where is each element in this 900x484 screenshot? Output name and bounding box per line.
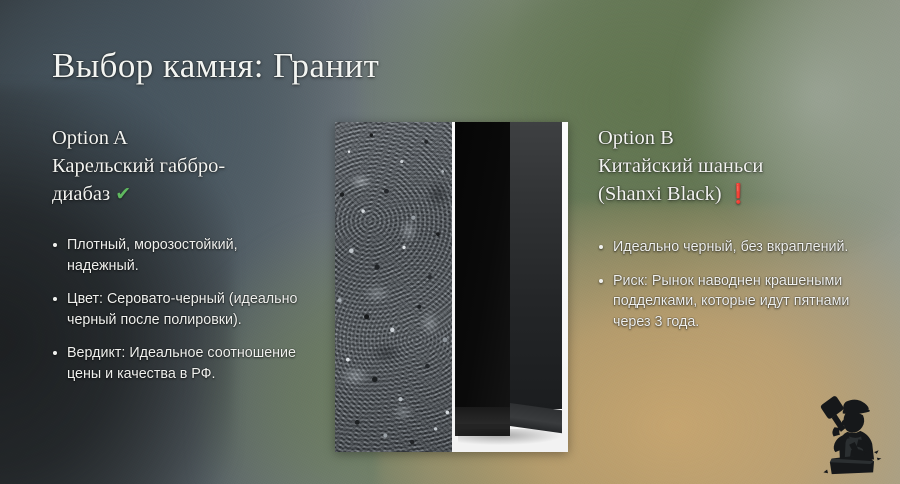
option-a-column: Option A Карельский габбро- диабаз ✔ Пло… bbox=[52, 124, 312, 397]
page-title: Выбор камня: Гранит bbox=[52, 46, 379, 86]
list-item: Риск: Рынок наводнен крашеными подделкам… bbox=[598, 271, 880, 333]
option-b-name-line1: Китайский шаньси bbox=[598, 155, 763, 177]
option-b-column: Option B Китайский шаньси (Shanxi Black)… bbox=[598, 124, 880, 345]
option-b-heading: Option B Китайский шаньси (Shanxi Black)… bbox=[598, 124, 880, 209]
check-mark-icon: ✔ bbox=[115, 184, 131, 205]
option-b-label: Option B bbox=[598, 127, 674, 149]
list-item: Плотный, морозостойкий, надежный. bbox=[52, 235, 312, 276]
block-side-face bbox=[510, 122, 562, 409]
stonemason-logo-icon bbox=[794, 384, 886, 476]
option-a-name-line1: Карельский габбро- bbox=[52, 155, 225, 177]
granite-blotch-overlay bbox=[335, 122, 452, 452]
option-a-heading: Option A Карельский габбро- диабаз ✔ bbox=[52, 124, 312, 209]
option-b-name-line2: (Shanxi Black) bbox=[598, 183, 722, 205]
block-shadow bbox=[458, 429, 562, 446]
option-a-bullet-list: Плотный, морозостойкий, надежный. Цвет: … bbox=[52, 235, 312, 384]
granite-texture-panel bbox=[335, 122, 452, 452]
slide: Выбор камня: Гранит Option A Карельский … bbox=[0, 0, 900, 484]
list-item: Цвет: Серовато-черный (идеально черный п… bbox=[52, 289, 312, 330]
option-b-bullet-list: Идеально черный, без вкраплений. Риск: Р… bbox=[598, 237, 880, 332]
list-item: Идеально черный, без вкраплений. bbox=[598, 237, 880, 258]
option-a-name-line2: диабаз bbox=[52, 183, 110, 205]
black-stone-block-panel bbox=[452, 122, 569, 452]
exclamation-mark-icon: ❗ bbox=[727, 184, 751, 205]
list-item: Вердикт: Идеальное соотношение цены и ка… bbox=[52, 343, 312, 384]
option-a-label: Option A bbox=[52, 127, 128, 149]
stone-comparison-photo: Текстура серого крапчатого гранита Полир… bbox=[335, 122, 568, 452]
block-front-face bbox=[455, 122, 510, 414]
